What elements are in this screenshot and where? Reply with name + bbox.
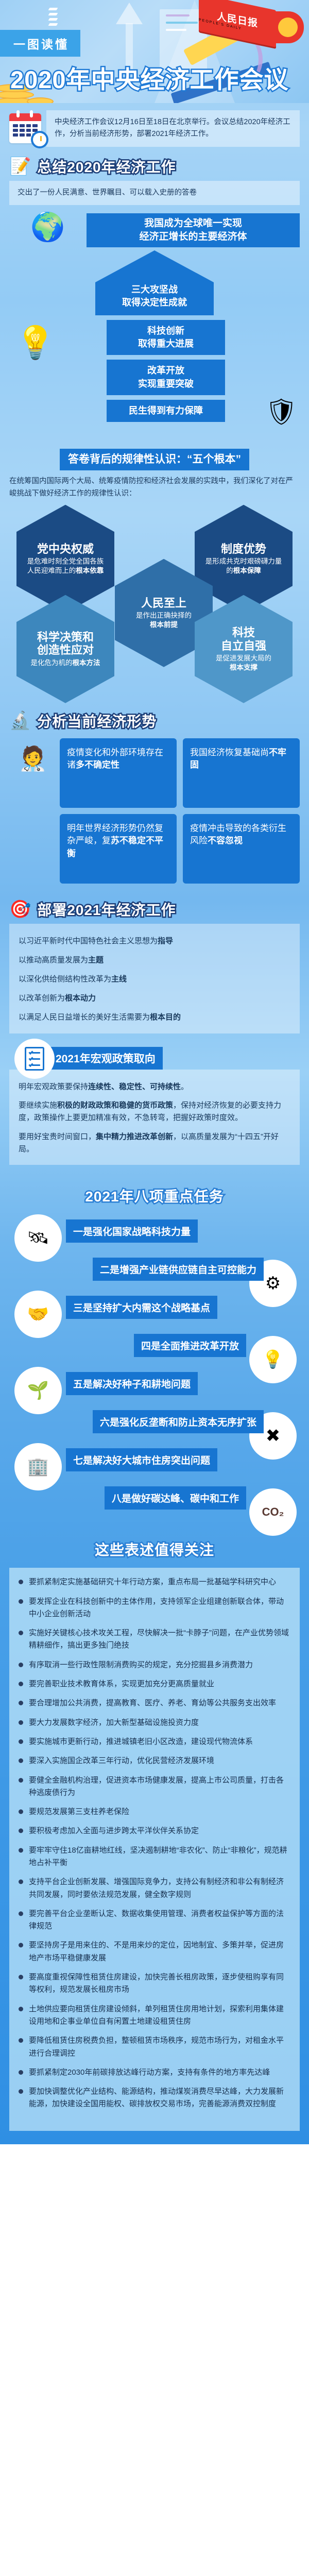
task-row: 🛰 一是强化国家战略科技力量	[9, 1215, 300, 1253]
task-label: 八是做好碳达峰、碳中和工作	[105, 1486, 246, 1510]
task-row: 🏢 七是解决好大城市住房突出问题	[9, 1444, 300, 1482]
list-item: 要高度重视保障性租赁住房建设，加快完善长租房政策，逐步使租购享有同等权利，规范发…	[19, 1971, 290, 1996]
section-deploy-2021: 🎯 部署2021年经济工作 以习近平新时代中国特色社会主义思想为指导 以推动高质…	[0, 884, 309, 1165]
globe-growth-icon: 🌍	[9, 213, 87, 241]
section-current-situation: 🔬 分析当前经济形势 🧑‍⚕️ 疫情变化和外部环境存在诸多不确定性 我国经济恢复…	[0, 703, 309, 884]
list-item: 要抓紧制定2030年前碳排放达峰行动方案，支持有条件的地方率先达峰	[19, 2066, 290, 2079]
task-label: 四是全面推进改革开放	[134, 1334, 246, 1357]
task-row: 🌱 五是解决好种子和耕地问题	[9, 1368, 300, 1406]
hex-title: 科学决策和 创造性应对	[37, 631, 94, 657]
situation-card: 疫情冲击导致的各类衍生风险不容忽视	[183, 814, 300, 884]
hex-sub-bold: 根本方法	[73, 659, 100, 667]
hex-sub: 是促进发展大局的	[216, 654, 271, 662]
list-item: 要牢牢守住18亿亩耕地红线，坚决遏制耕地“非农化”、防止“非粮化”，规范耕地占补…	[19, 1844, 290, 1870]
task-label: 六是强化反垄断和防止资本无序扩张	[93, 1410, 264, 1433]
intro-section: 中央经济工作会议12月16日至18日在北京举行。会议总结2020年经济工作，分析…	[0, 103, 309, 149]
list-item: 要完善平台企业垄断认定、数据收集使用管理、消费者权益保护等方面的法律规范	[19, 1908, 290, 1933]
list-item: 土地供应要向租赁住房建设倾斜，单列租赁住房用地计划，探索利用集体建设用地和企事业…	[19, 2003, 290, 2028]
situation-card: 疫情变化和外部环境存在诸多不确定性	[60, 738, 177, 808]
guide-item: 以满足人民日益增长的美好生活需要为根本目的	[19, 1007, 290, 1026]
list-item: 支持平台企业创新发展、增强国际竞争力，支持公有制经济和非公有制经济共同发展，同时…	[19, 1876, 290, 1901]
task-label: 五是解决好种子和耕地问题	[66, 1372, 198, 1395]
target-arrow-icon: 🎯	[9, 899, 31, 920]
list-item: 要完善职业技术教育体系，实现更加充分更高质量就业	[19, 1678, 290, 1690]
section-heading: 分析当前经济形势	[37, 710, 157, 731]
achievement-2: 科技创新 取得重大进展	[107, 320, 225, 355]
guide-item: 以习近平新时代中国特色社会主义思想为指导	[19, 931, 290, 950]
checklist-icon	[14, 1039, 55, 1079]
list-item: 要积极考虑加入全面与进步跨太平洋伙伴关系协定	[19, 1825, 290, 1837]
peoples-daily-badge: 人民日报 PEOPLE'S DAILY	[199, 0, 307, 60]
shield-people-icon: 🛡	[265, 397, 298, 427]
decorative-arrow-head	[116, 3, 143, 24]
hex-title: 党中央权威	[37, 543, 94, 555]
macro-policy-title: 2021年宏观政策取向	[48, 1047, 163, 1070]
infographic-page: 人民日报 PEOPLE'S DAILY 一图读懂 2020年中央经济工作会议 中…	[0, 0, 309, 2144]
section-summary-2020: 📝 总结2020年经济工作 交出了一份人民满意、世界瞩目、可以载入史册的答卷 🌍…	[0, 149, 309, 703]
list-item: 实施好关键核心技术攻关工程，尽快解决一批“卡脖子”问题，在产业优势领域精耕细作，…	[19, 1627, 290, 1652]
microscope-icon: 🔬	[9, 710, 31, 731]
achievement-3: 改革开放 实现重要突破	[107, 360, 225, 395]
hex-sub: 是作出正确抉择的	[136, 612, 192, 619]
section-heading: 部署2021年经济工作	[37, 899, 176, 920]
list-item: 要降低租赁住房税费负担，整顿租赁市场秩序，规范市场行为，对租金水平进行合理调控	[19, 2035, 290, 2060]
document-edit-icon: 📝	[9, 156, 31, 177]
situation-card: 明年世界经济形势仍然复杂严峻，复苏不稳定不平衡	[60, 814, 177, 884]
section-heading: 总结2020年经济工作	[37, 156, 176, 177]
task-row: ✖ 六是强化反垄断和防止资本无序扩张	[9, 1406, 300, 1444]
task-label: 二是增强产业链供应链自主可控能力	[93, 1258, 264, 1281]
list-item: 要实施城市更新行动，推进城镇老旧小区改造，建设现代物流体系	[19, 1736, 290, 1748]
section-heading: 这些表述值得关注	[95, 1542, 214, 1558]
list-item: 要坚持房子是用来住的、不是用来炒的定位，因地制宜、多策并举，促进房地产市场平稳健…	[19, 1939, 290, 1964]
achievement-4: 民生得到有力保障	[107, 400, 225, 422]
guide-item: 以深化供给侧结构性改革为主线	[19, 969, 290, 988]
hex-sub-bold: 根本依靠	[76, 567, 104, 574]
hex-scientific-decision: 科学决策和 创造性应对 是化危为机的根本方法	[16, 595, 114, 703]
list-item: 要大力发展数字经济，加大新型基础设施投资力度	[19, 1717, 290, 1729]
page-title: 2020年中央经济工作会议	[10, 60, 289, 95]
task-row: 🤝 三是坚持扩大内需这个战略基点	[9, 1292, 300, 1330]
list-item: 要健全金融机构治理，促进资本市场健康发展，提高上市公司质量，打击各种逃废债行为	[19, 1774, 290, 1800]
macro-policy-card: 2021年宏观政策取向 明年宏观政策要保持连续性、稳定性、可持续性。 要继续实施…	[9, 1047, 300, 1165]
section-subtitle: 交出了一份人民满意、世界瞩目、可以载入史册的答卷	[9, 181, 300, 205]
achievements-arrow: 三大攻坚战 取得决定性成就 💡 科技创新 取得重大进展 改革开放 实现重要突破 …	[9, 250, 300, 422]
macro-paragraph: 要用好宝贵时间窗口，集中精力推进改革创新，以高质量发展为“十四五”开好局。	[19, 1131, 290, 1156]
hex-title: 人民至上	[141, 597, 186, 609]
task-row: 💡 四是全面推进改革开放	[9, 1330, 300, 1368]
task-label: 三是坚持扩大内需这个战略基点	[66, 1296, 217, 1319]
list-item: 要加快调整优化产业结构、能源结构，推动煤炭消费尽早达峰，大力发展新能源，加快建设…	[19, 2086, 290, 2111]
hex-sub: 是化危为机的	[31, 659, 73, 667]
intro-text: 中央经济工作会议12月16日至18日在北京举行。会议总结2020年经济工作，分析…	[46, 110, 300, 147]
hex-sub-bold: 根本保障	[233, 567, 261, 574]
hero-banner: 人民日报 PEOPLE'S DAILY 一图读懂 2020年中央经济工作会议	[0, 0, 309, 103]
section-notable-statements: 这些表述值得关注 要抓紧制定实施基础研究十年行动方案，重点布局一批基础学科研究中…	[0, 1520, 309, 2144]
megaphone-icon	[272, 11, 304, 43]
task-row: ⚙ 二是增强产业链供应链自主可控能力	[9, 1253, 300, 1292]
macro-paragraph: 要继续实施积极的财政政策和稳健的货币政策，保持对经济恢复的必要支持力度，政策操作…	[19, 1099, 290, 1125]
task-row: CO₂ 八是做好碳达峰、碳中和工作	[9, 1482, 300, 1520]
lightbulb-gear-icon: 💡	[15, 324, 55, 362]
hex-title: 制度优势	[221, 543, 266, 555]
list-item: 要规范发展第三支柱养老保险	[19, 1806, 290, 1818]
five-roots-hexagons: 党中央权威 是危难时刻全党全国各族人民迎难而上的根本依靠 制度优势 是形成共克时…	[9, 505, 300, 703]
task-label: 七是解决好大城市住房突出问题	[66, 1448, 217, 1471]
top-banner-text: 我国成为全球唯一实现 经济正增长的主要经济体	[87, 213, 300, 247]
brand-flag: 人民日报 PEOPLE'S DAILY	[199, 0, 276, 47]
situation-card: 我国经济恢复基础尚不牢固	[183, 738, 300, 808]
hex-sub-bold: 根本支撑	[230, 664, 257, 671]
list-item: 要合理增加公共消费，提高教育、医疗、养老、育幼等公共服务支出效率	[19, 1697, 290, 1709]
calendar-icon	[9, 113, 41, 143]
five-roots-title: 答卷背后的规律性认识：“五个根本”	[60, 449, 249, 470]
list-item: 要深入实施国企改革三年行动，优化民营经济发展环境	[19, 1755, 290, 1767]
guide-item: 以改革创新为根本动力	[19, 988, 290, 1007]
section-heading: 2021年八项重点任务	[85, 1189, 224, 1205]
section-eight-tasks: 2021年八项重点任务 🛰 一是强化国家战略科技力量 ⚙ 二是增强产业链供应链自…	[0, 1165, 309, 1520]
achievement-1: 三大攻坚战 取得决定性成就	[95, 282, 214, 315]
list-item: 有序取消一些行政性限制消费购买的规定，充分挖掘县乡消费潜力	[19, 1659, 290, 1671]
chevron-decoration-icon	[49, 5, 57, 28]
ribbon-label: 一图读懂	[0, 30, 80, 57]
hex-sub-bold: 根本前提	[150, 621, 178, 629]
clock-icon	[31, 131, 48, 148]
task-label: 一是强化国家战略科技力量	[66, 1219, 198, 1243]
macro-paragraph: 明年宏观政策要保持连续性、稳定性、可持续性。	[19, 1081, 290, 1093]
list-item: 要抓紧制定实施基础研究十年行动方案，重点布局一批基础学科研究中心	[19, 1576, 290, 1588]
five-roots-intro: 在统筹国内国际两个大局、统筹疫情防控和经济社会发展的实践中，我们深化了对在严峻挑…	[9, 476, 300, 499]
hex-title: 科技 自立自强	[221, 626, 266, 652]
medical-worker-icon: 🧑‍⚕️	[9, 735, 57, 773]
guide-item: 以推动高质量发展为主题	[19, 950, 290, 969]
arrow-head-shape	[95, 250, 214, 282]
notable-statements-list: 要抓紧制定实施基础研究十年行动方案，重点布局一批基础学科研究中心 要发挥企业在科…	[9, 1568, 300, 2131]
guiding-principles-list: 以习近平新时代中国特色社会主义思想为指导 以推动高质量发展为主题 以深化供给侧结…	[9, 924, 300, 1033]
list-item: 要发挥企业在科技创新中的主体作用，支持领军企业组建创新联合体，带动中小企业创新活…	[19, 1596, 290, 1621]
